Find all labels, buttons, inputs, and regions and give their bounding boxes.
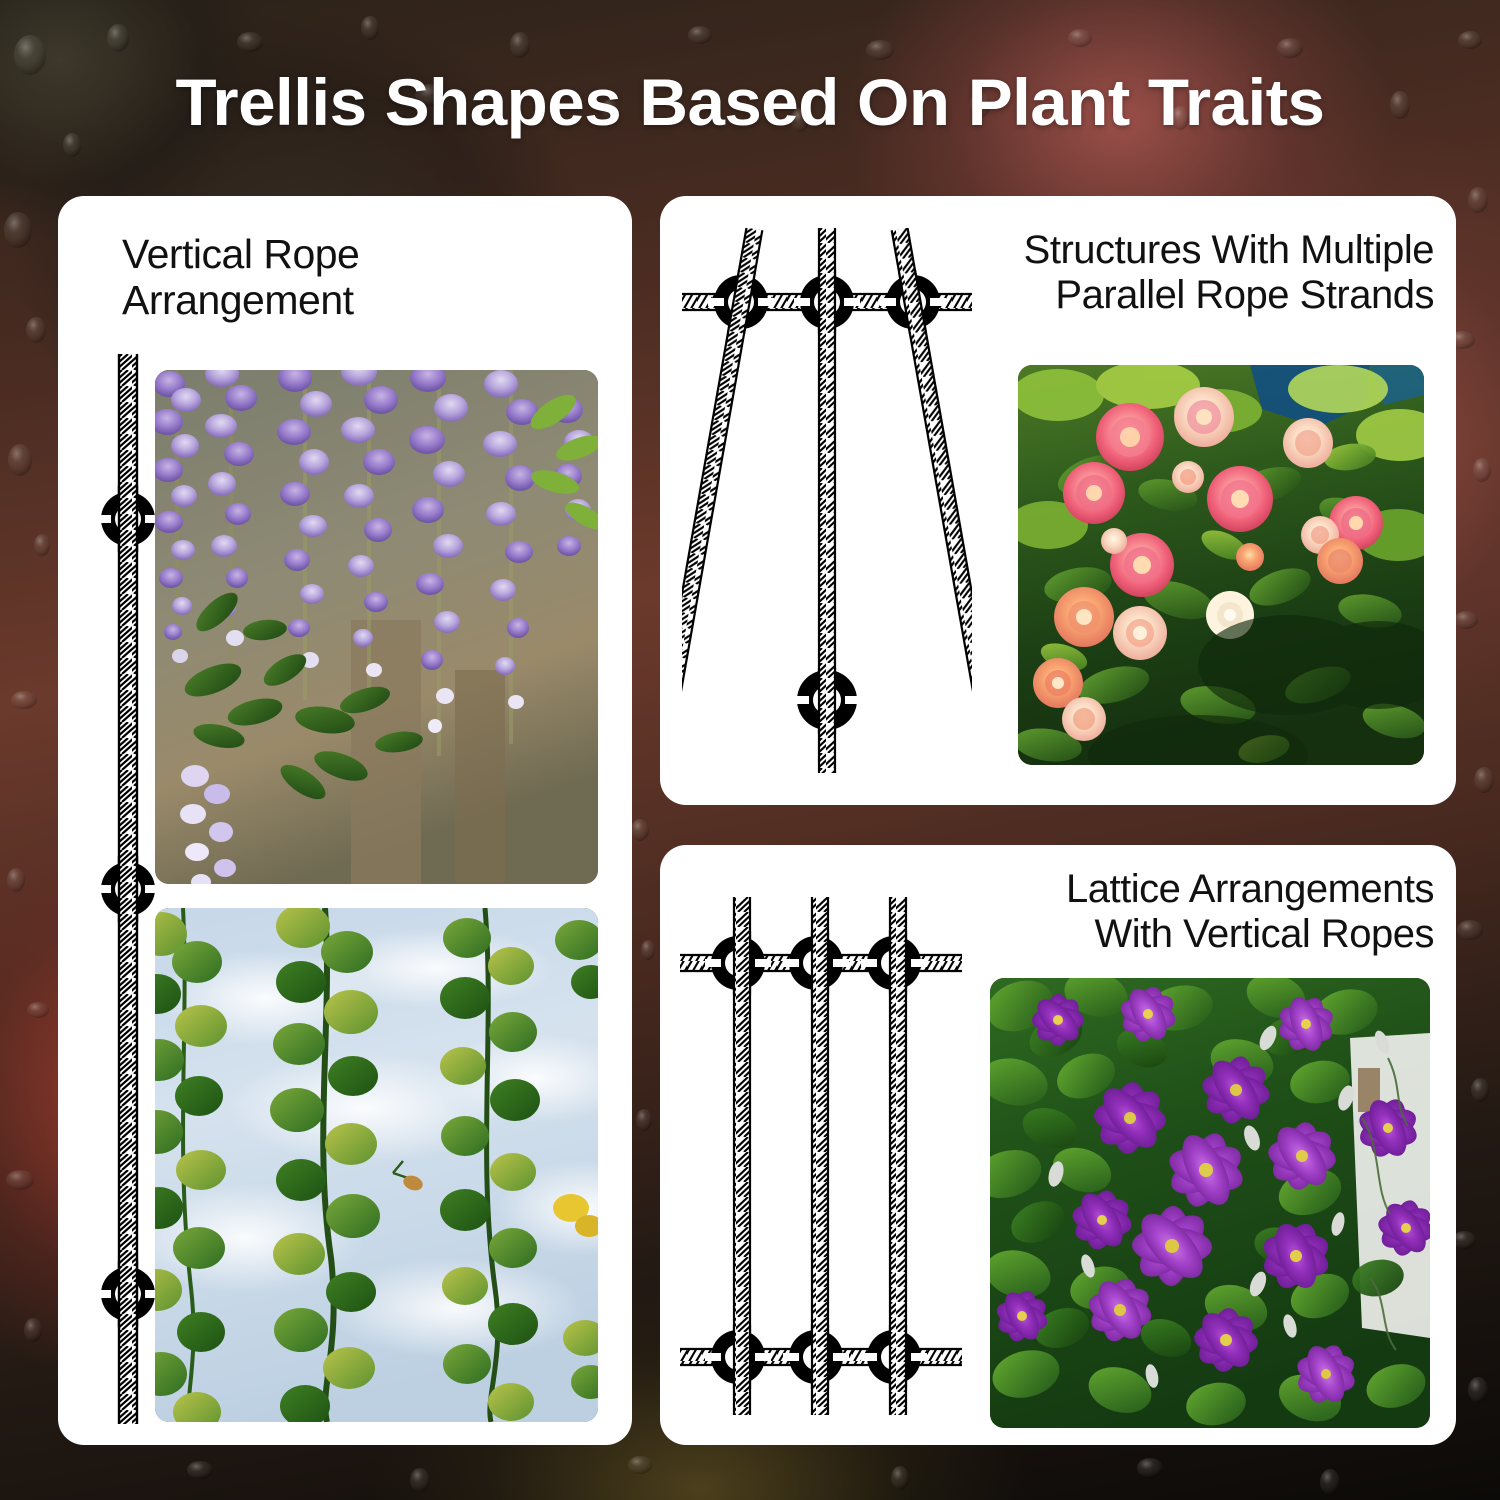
lattice-rope-diagram bbox=[672, 897, 967, 1415]
climbing-vines-photo bbox=[155, 908, 598, 1422]
card-heading-multiple-parallel-strands: Structures With Multiple Parallel Rope S… bbox=[904, 228, 1434, 318]
page-title: Trellis Shapes Based On Plant Traits bbox=[0, 68, 1500, 137]
card-lattice-arrangements: Lattice Arrangements With Vertical Ropes bbox=[660, 845, 1456, 1445]
climbing-roses-photo bbox=[1018, 365, 1424, 765]
fan-rope-diagram bbox=[682, 228, 972, 773]
card-vertical-rope: Vertical Rope Arrangement bbox=[58, 196, 632, 1445]
wisteria-photo bbox=[155, 370, 598, 884]
card-multiple-parallel-strands: Structures With Multiple Parallel Rope S… bbox=[660, 196, 1456, 805]
card-heading-lattice-arrangements: Lattice Arrangements With Vertical Ropes bbox=[889, 867, 1434, 957]
card-heading-vertical-rope: Vertical Rope Arrangement bbox=[122, 232, 612, 324]
infographic-page: Trellis Shapes Based On Plant Traits Ver… bbox=[0, 0, 1500, 1500]
clematis-photo bbox=[990, 978, 1430, 1428]
